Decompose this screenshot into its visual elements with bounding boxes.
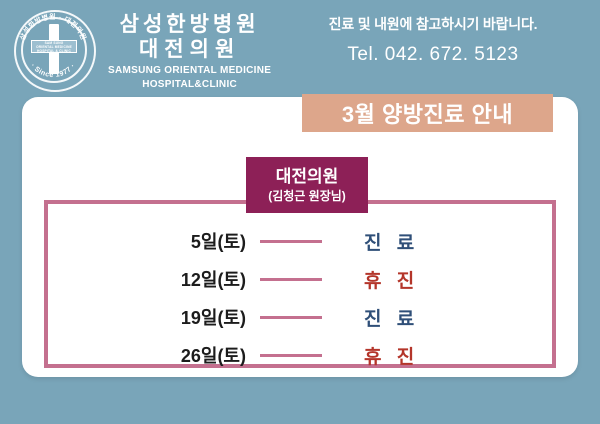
clinic-schedule-poster: SAM SUNG ORIENTAL MEDICINE HOSPITAL & CL…: [0, 0, 600, 424]
schedule-date: 19일(토): [60, 304, 260, 330]
schedule-date: 12일(토): [60, 266, 260, 292]
schedule-row: 5일(토) 진 료: [60, 222, 540, 260]
brand-block: SAM SUNG ORIENTAL MEDICINE HOSPITAL & CL…: [12, 8, 271, 94]
medical-cross-seal-icon: SAM SUNG ORIENTAL MEDICINE HOSPITAL & CL…: [12, 8, 98, 94]
title-banner-label: 3월 양방진료 안내: [342, 97, 513, 129]
schedule-date: 5일(토): [60, 228, 260, 254]
svg-text:· Since 1977 ·: · Since 1977 ·: [29, 63, 77, 79]
seal-arc-bottom-text: · Since 1977 ·: [12, 8, 94, 90]
schedule-separator-dash: [260, 354, 322, 357]
poster-header: SAM SUNG ORIENTAL MEDICINE HOSPITAL & CL…: [0, 0, 600, 97]
schedule-status: 진 료: [322, 228, 540, 255]
clinic-doctor-name: (김청근 원장님): [268, 188, 346, 205]
schedule-status: 휴 진: [322, 342, 540, 369]
brand-english-line-1: SAMSUNG ORIENTAL MEDICINE: [108, 64, 271, 78]
contact-note: 진료 및 내원에 참고하시기 바랍니다.: [288, 14, 578, 34]
schedule-row: 26일(토) 휴 진: [60, 336, 540, 374]
schedule-separator-dash: [260, 240, 322, 243]
schedule-row: 19일(토) 진 료: [60, 298, 540, 336]
title-banner: 3월 양방진료 안내: [302, 94, 553, 132]
schedule-date: 26일(토): [60, 342, 260, 368]
schedule-status: 진 료: [322, 304, 540, 331]
brand-korean-line-1: 삼성한방병원: [108, 12, 271, 37]
contact-phone-number: Tel. 042. 672. 5123: [288, 42, 578, 68]
schedule-list: 5일(토) 진 료 12일(토) 휴 진 19일(토) 진 료 26일(토) 휴…: [60, 222, 540, 374]
brand-text-block: 삼성한방병원 대전의원 SAMSUNG ORIENTAL MEDICINE HO…: [108, 12, 271, 91]
schedule-separator-dash: [260, 316, 322, 319]
seal-arc-bottom-label: · Since 1977 ·: [29, 63, 77, 79]
clinic-name: 대전의원: [276, 166, 339, 187]
schedule-separator-dash: [260, 278, 322, 281]
schedule-row: 12일(토) 휴 진: [60, 260, 540, 298]
contact-block: 진료 및 내원에 참고하시기 바랍니다. Tel. 042. 672. 5123: [288, 14, 578, 68]
clinic-header-box: 대전의원 (김청근 원장님): [246, 157, 368, 213]
brand-korean-line-2: 대전의원: [108, 37, 271, 62]
schedule-status: 휴 진: [322, 266, 540, 293]
brand-english-line-2: HOSPITAL&CLINIC: [108, 78, 271, 91]
